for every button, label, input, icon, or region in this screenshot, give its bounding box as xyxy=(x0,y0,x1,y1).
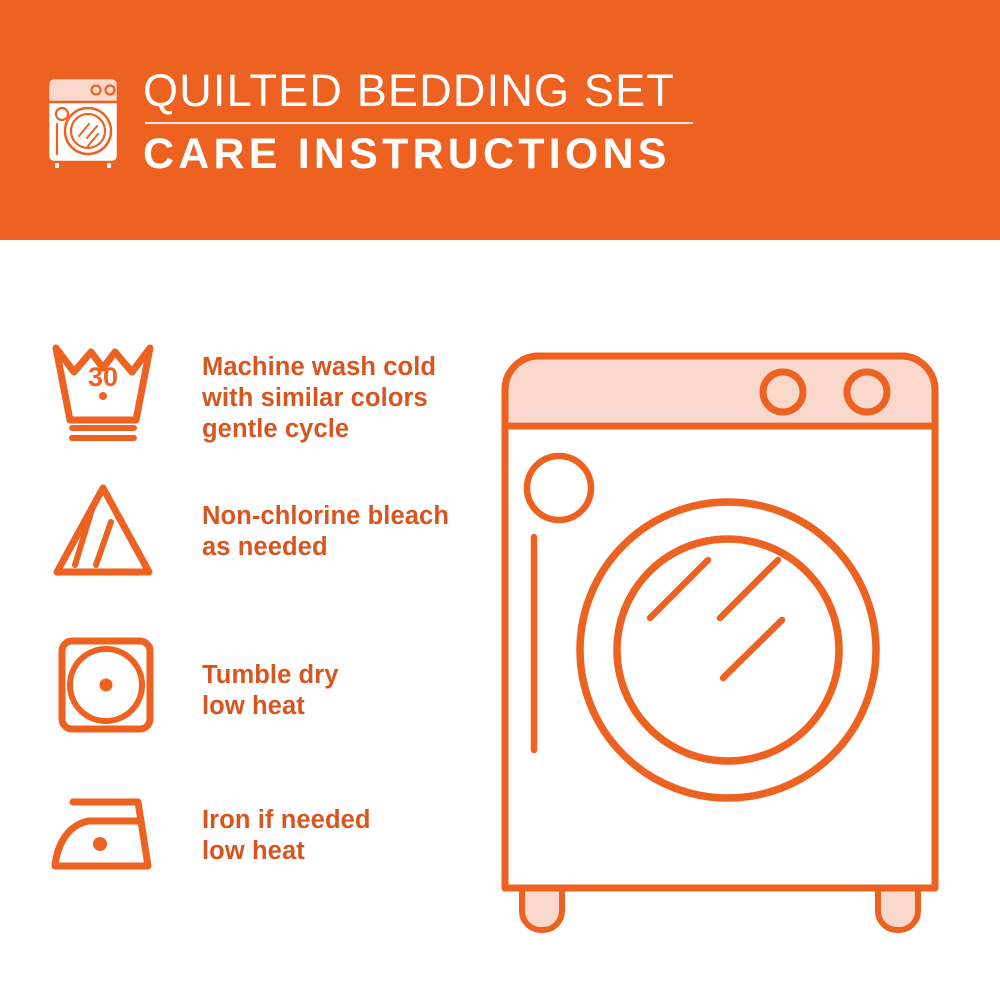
washing-machine-icon xyxy=(44,74,122,170)
wash-temperature-label: 30 xyxy=(88,362,118,392)
header-text-block: QUILTED BEDDING SET CARE INSTRUCTIONS xyxy=(143,66,703,179)
page-subtitle: CARE INSTRUCTIONS xyxy=(143,129,703,179)
care-line: Tumble dry xyxy=(202,660,339,691)
care-line: low heat xyxy=(202,836,371,867)
care-line: Non-chlorine bleach xyxy=(202,501,449,532)
wash-tub-30-gentle-icon: 30 xyxy=(48,338,158,443)
care-line: as needed xyxy=(202,532,449,563)
care-item-tumble-dry-text: Tumble dry low heat xyxy=(202,660,339,722)
care-line: gentle cycle xyxy=(202,414,436,445)
title-divider xyxy=(145,122,693,124)
front-load-washing-machine-illustration xyxy=(480,330,980,940)
care-line: Machine wash cold xyxy=(202,352,436,383)
indicator-button xyxy=(527,456,591,520)
care-instructions-infographic: QUILTED BEDDING SET CARE INSTRUCTIONS 30… xyxy=(0,0,1000,1000)
care-line: with similar colors xyxy=(202,383,436,414)
care-item-wash-text: Machine wash cold with similar colors ge… xyxy=(202,352,436,445)
care-line: low heat xyxy=(202,691,339,722)
header-banner: QUILTED BEDDING SET CARE INSTRUCTIONS xyxy=(0,0,1000,240)
tumble-dry-low-heat-icon xyxy=(56,635,156,735)
care-item-iron-text: Iron if needed low heat xyxy=(202,805,371,867)
care-item-bleach-text: Non-chlorine bleach as needed xyxy=(202,501,449,563)
care-line: Iron if needed xyxy=(202,805,371,836)
page-title: QUILTED BEDDING SET xyxy=(143,66,703,116)
triangle-non-chlorine-bleach-icon xyxy=(48,480,158,580)
iron-low-heat-icon xyxy=(48,788,163,878)
care-symbol-list: 30 Machine wash cold with similar colors… xyxy=(0,240,500,1000)
